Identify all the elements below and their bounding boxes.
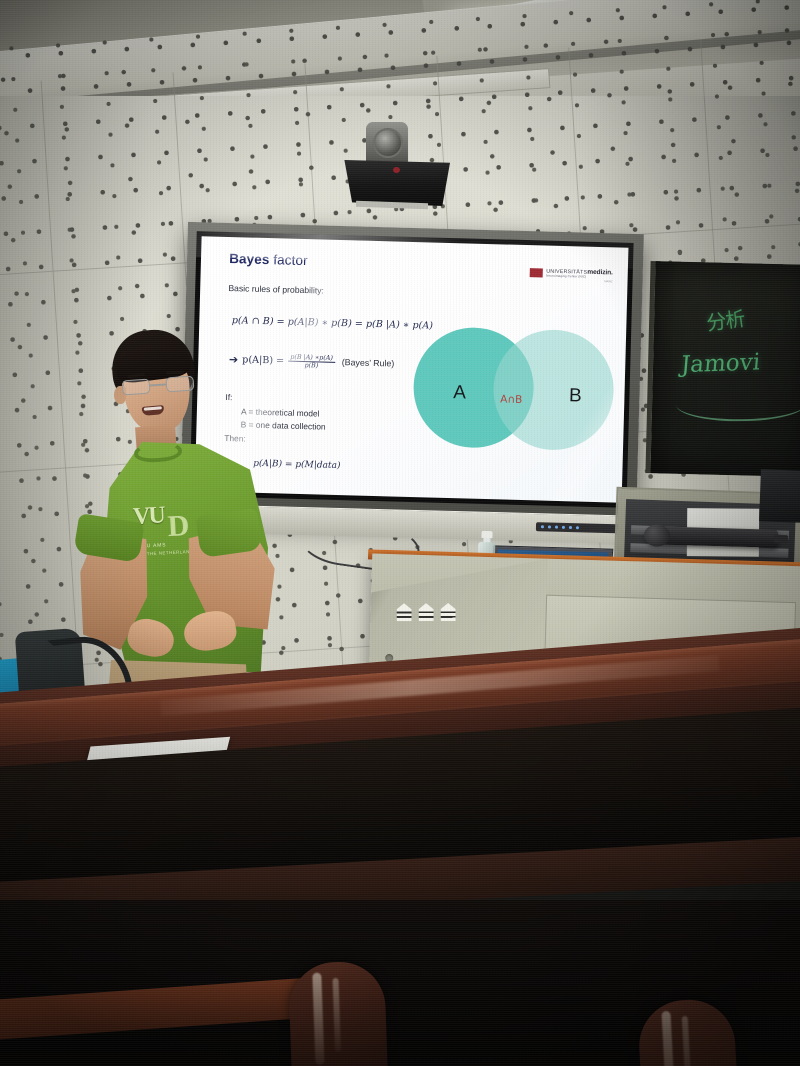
seat-highlight [312, 973, 324, 1065]
slide-subtitle: Basic rules of probability: [228, 283, 324, 296]
seat-highlight [682, 1016, 692, 1066]
logo-line-3: MAINZ [546, 279, 613, 284]
glasses-lens-left [122, 379, 151, 396]
venn-diagram: A A∩B B [411, 306, 616, 480]
led-icon [569, 526, 572, 529]
ptz-camera-icon [340, 122, 450, 217]
shield-icon [397, 603, 412, 621]
chalk-underline-arc [676, 387, 800, 422]
led-icon [548, 525, 551, 528]
blackboard: 分析 Jamovi [645, 261, 800, 477]
led-icon [555, 526, 558, 529]
wireless-microphone [646, 526, 778, 548]
camera-mount-arm [356, 201, 428, 210]
logo-mark-icon [529, 268, 542, 277]
venn-label-b: B [569, 386, 582, 408]
university-logo: UNIVERSITÄTSmedizin. Neuroimaging Center… [529, 267, 613, 284]
seat-highlight [332, 978, 341, 1052]
bayes-rule-note: (Bayes’ Rule) [342, 358, 395, 369]
seat-back [288, 960, 388, 1066]
lecture-hall-photo: 分析 Jamovi Bayes factor Basic rules of pr… [0, 0, 800, 1066]
logo-line-1-bold: medizin. [587, 268, 613, 276]
tshirt-logo-mark: D [167, 509, 190, 544]
tshirt-logo-line-2: ••• THE NETHERLANDS [139, 549, 197, 557]
side-monitor [759, 469, 800, 523]
venn-label-a: A [453, 383, 466, 405]
fraction-denominator: p(B) [302, 362, 320, 370]
glasses-lens-right [165, 376, 194, 393]
microphone-head-icon [644, 524, 671, 547]
camera-led-icon [393, 167, 400, 173]
venn-label-intersection: A∩B [500, 393, 522, 406]
slide-title-bold: Bayes [229, 251, 270, 267]
podium-shield-icons [397, 603, 456, 621]
chalk-chinese-text: 分析 [704, 302, 746, 336]
shield-icon [441, 603, 456, 621]
glasses-bridge [150, 383, 166, 386]
camera-lens-icon [373, 128, 403, 158]
slide-title-thin: factor [269, 252, 308, 268]
microphone-tail [774, 535, 788, 543]
chalk-jamovi-text: Jamovi [680, 349, 761, 378]
slide-title: Bayes factor [229, 251, 308, 268]
logo-text: UNIVERSITÄTSmedizin. Neuroimaging Center… [546, 267, 613, 284]
seat-highlight [661, 1011, 675, 1066]
led-icon [576, 526, 579, 529]
led-icon [562, 526, 565, 529]
shield-icon [419, 603, 434, 621]
equation-joint-probability: p(A ∩ B) = p(A|B) ∗ p(B) = p(B |A) ∗ p(A… [232, 315, 433, 331]
led-icon [541, 525, 544, 528]
